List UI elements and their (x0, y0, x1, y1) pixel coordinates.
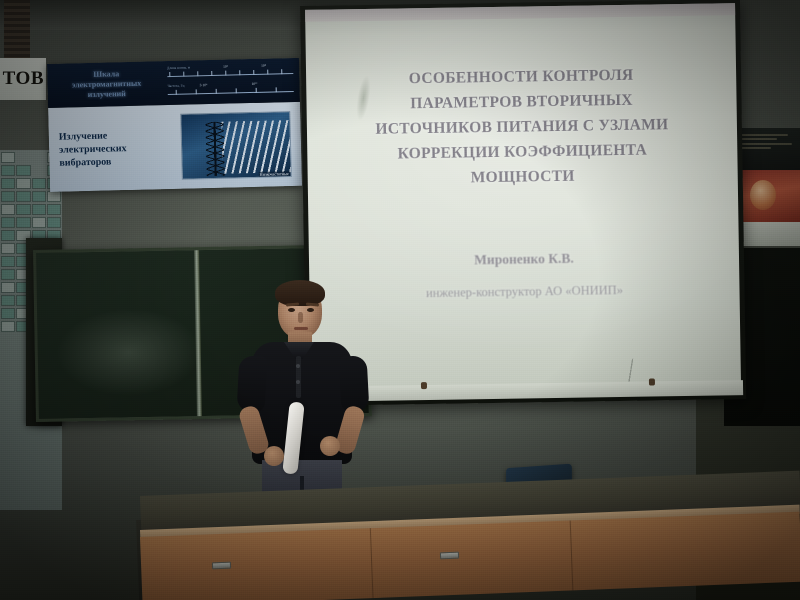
presenter-eye-left (288, 308, 295, 312)
electromagnetic-spectrum-poster: Шкала электромагнитных излучений Длина в… (47, 58, 302, 192)
left-edge-poster-text: ТОВ (3, 68, 46, 90)
desk-hinge-right (440, 552, 459, 560)
slide-title-line-1: ОСОБЕННОСТИ КОНТРОЛЯ (409, 67, 634, 88)
slide-title-line-2: ПАРАМЕТРОВ ВТОРИЧНЫХ (410, 92, 633, 112)
presenter-nose (298, 312, 303, 323)
left-edge-poster-label: ТОВ (0, 58, 46, 100)
antenna-tower-photo: Низкочастотные (180, 111, 292, 180)
poster-subtitle-line-3: вибраторов (59, 153, 181, 169)
frequency-tick-1: 3·10⁴ (200, 83, 208, 87)
photo-caption: Низкочастотные (259, 171, 290, 177)
poster-title-line-3: излучений (48, 88, 166, 101)
lecture-hall-photo: ТОВ Шкала электромагнитных излучений Дли… (0, 0, 800, 600)
antenna-tower-icon (205, 122, 224, 176)
right-poster-figure (750, 180, 776, 210)
frequency-axis: Частота, Гц 3·10⁴ 10¹² (166, 82, 296, 101)
presenter-eye-right (307, 308, 314, 312)
frequency-axis-label: Частота, Гц (168, 84, 185, 88)
wavelength-tick-2: 10⁸ (261, 64, 266, 68)
presenter-mouth (294, 327, 308, 330)
poster-subtitle: Излучение электрических вибраторов (49, 127, 182, 169)
spectrum-axes: Длина волны, м 10⁴ 10⁸ Частота, Гц (165, 62, 300, 101)
slide-affiliation: инженер-конструктор АО «ОНИИП» (426, 283, 623, 301)
presenter-hand-left (264, 446, 284, 466)
antenna-wires (221, 120, 290, 174)
polo-placket (296, 356, 301, 398)
slide-title-line-3: ИСТОЧНИКОВ ПИТАНИЯ С УЗЛАМИ (375, 116, 668, 138)
slide-title-line-4: КОРРЕКЦИИ КОЭФФИЦИЕНТА (397, 142, 647, 163)
presenter-hair (275, 280, 325, 306)
slide-title-line-5: МОЩНОСТИ (471, 168, 575, 187)
wavelength-axis: Длина волны, м 10⁴ 10⁸ (165, 64, 295, 83)
frequency-tick-2: 10¹² (252, 82, 258, 86)
wavelength-axis-label: Длина волны, м (167, 66, 190, 71)
presenter (228, 284, 378, 500)
chalkboard-glare (53, 306, 205, 399)
poster-header: Шкала электромагнитных излучений Длина в… (47, 58, 300, 108)
desk-hinge-left (212, 562, 231, 570)
poster-header-title: Шкала электромагнитных излучений (47, 68, 166, 101)
slide-author: Мироненко К.В. (474, 251, 574, 269)
presenter-hand-right (320, 436, 340, 456)
presenter-sleeve-left (237, 355, 268, 412)
poster-body: Излучение электрических вибраторов Низко… (48, 102, 302, 192)
presenter-sleeve-right (339, 355, 370, 412)
polo-button-bottom (296, 380, 300, 384)
slide-title: ОСОБЕННОСТИ КОНТРОЛЯ ПАРАМЕТРОВ ВТОРИЧНЫ… (346, 62, 698, 192)
ceiling-vent (4, 0, 30, 64)
wavelength-tick-1: 10⁴ (223, 65, 228, 69)
polo-button-top (296, 364, 300, 368)
chalkboard-divider (194, 250, 202, 416)
